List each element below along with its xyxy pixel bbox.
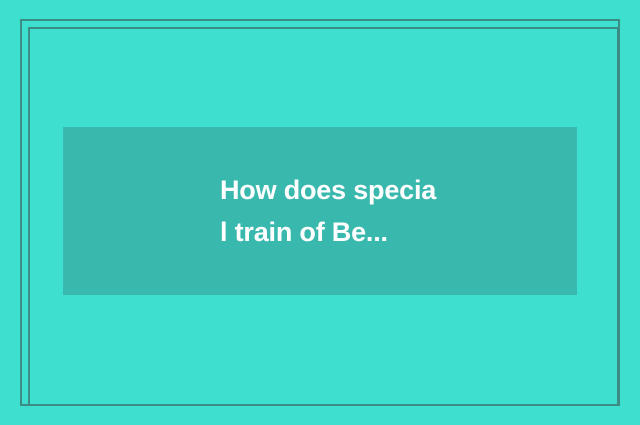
content-panel: How does specia l train of Be... [63, 127, 577, 295]
card-title: How does specia l train of Be... [63, 169, 577, 253]
placeholder-card-canvas: How does specia l train of Be... [0, 0, 640, 425]
